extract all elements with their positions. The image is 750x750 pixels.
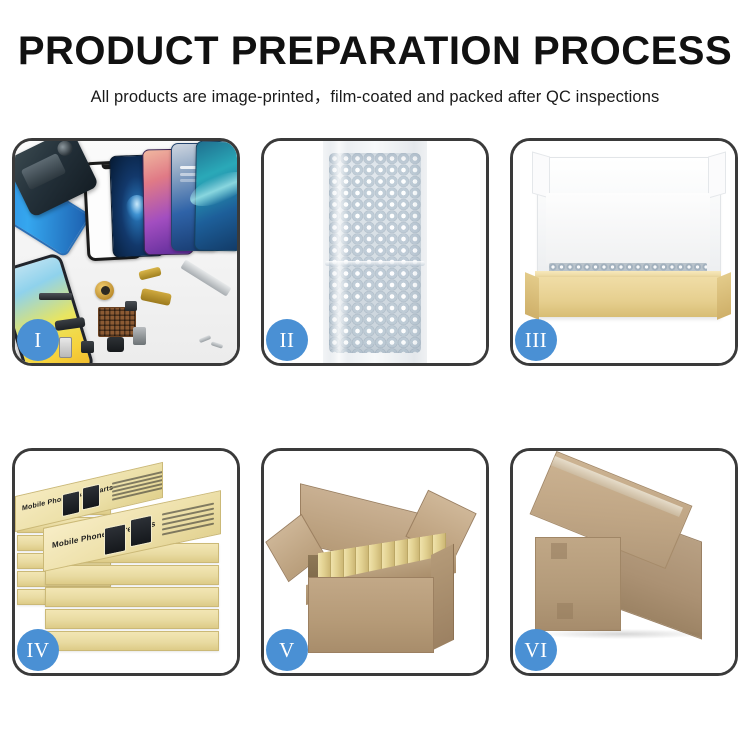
carton-front-face	[308, 577, 434, 653]
front-box-layer-3	[45, 587, 219, 607]
small-component-part-2	[125, 301, 137, 311]
process-step-panel-6: VI	[510, 448, 738, 676]
step-badge-4: IV	[17, 629, 59, 671]
box-screen-image-front-1	[104, 523, 126, 556]
flex-cable-part-b	[140, 288, 172, 306]
header: PRODUCT PREPARATION PROCESS All products…	[0, 30, 750, 107]
phone-screen-teal	[194, 141, 237, 251]
screws-part	[199, 335, 225, 349]
copper-mesh-part	[98, 307, 136, 337]
step-badge-5: V	[266, 629, 308, 671]
tweezers-tool	[180, 259, 231, 296]
sim-tray-part	[59, 337, 72, 358]
box-screen-image-rear-2	[82, 483, 100, 510]
sealed-carton-front-face	[535, 537, 621, 631]
kraft-box-base	[535, 277, 721, 317]
step-badge-1: I	[17, 319, 59, 361]
step-badge-3: III	[515, 319, 557, 361]
process-step-grid: I II	[12, 138, 738, 676]
speaker-module-part	[107, 337, 124, 352]
process-step-panel-1: I	[12, 138, 240, 366]
carton-ground-shadow	[539, 629, 705, 639]
page-subtitle: All products are image-printed，film-coat…	[0, 83, 750, 107]
plastic-gloss-highlight	[330, 141, 348, 363]
front-box-layer-2	[45, 565, 219, 585]
page-title: PRODUCT PREPARATION PROCESS	[0, 30, 750, 72]
step-badge-6: VI	[515, 629, 557, 671]
carton-right-face	[431, 544, 454, 651]
small-component-part-1	[81, 341, 94, 353]
process-step-panel-4: Mobile Phone Spare Parts	[12, 448, 240, 676]
carton-handle-tab-upper	[551, 543, 567, 559]
step-badge-2: II	[266, 319, 308, 361]
box-screen-image-front-2	[130, 515, 152, 548]
box-screen-image-rear-1	[62, 490, 80, 517]
earpiece-strip-part	[39, 293, 72, 300]
flex-cable-part-c	[138, 266, 162, 280]
product-preparation-infographic: PRODUCT PREPARATION PROCESS All products…	[0, 0, 750, 750]
process-step-panel-2: II	[261, 138, 489, 366]
process-step-panel-3: III	[510, 138, 738, 366]
foam-padding	[546, 193, 710, 265]
speaker-coil-part	[95, 281, 114, 300]
front-box-layer-4	[45, 609, 219, 629]
carton-handle-tab-lower	[557, 603, 573, 619]
front-box-layer-5	[45, 631, 219, 651]
process-step-panel-5: V	[261, 448, 489, 676]
battery-part	[133, 327, 146, 345]
